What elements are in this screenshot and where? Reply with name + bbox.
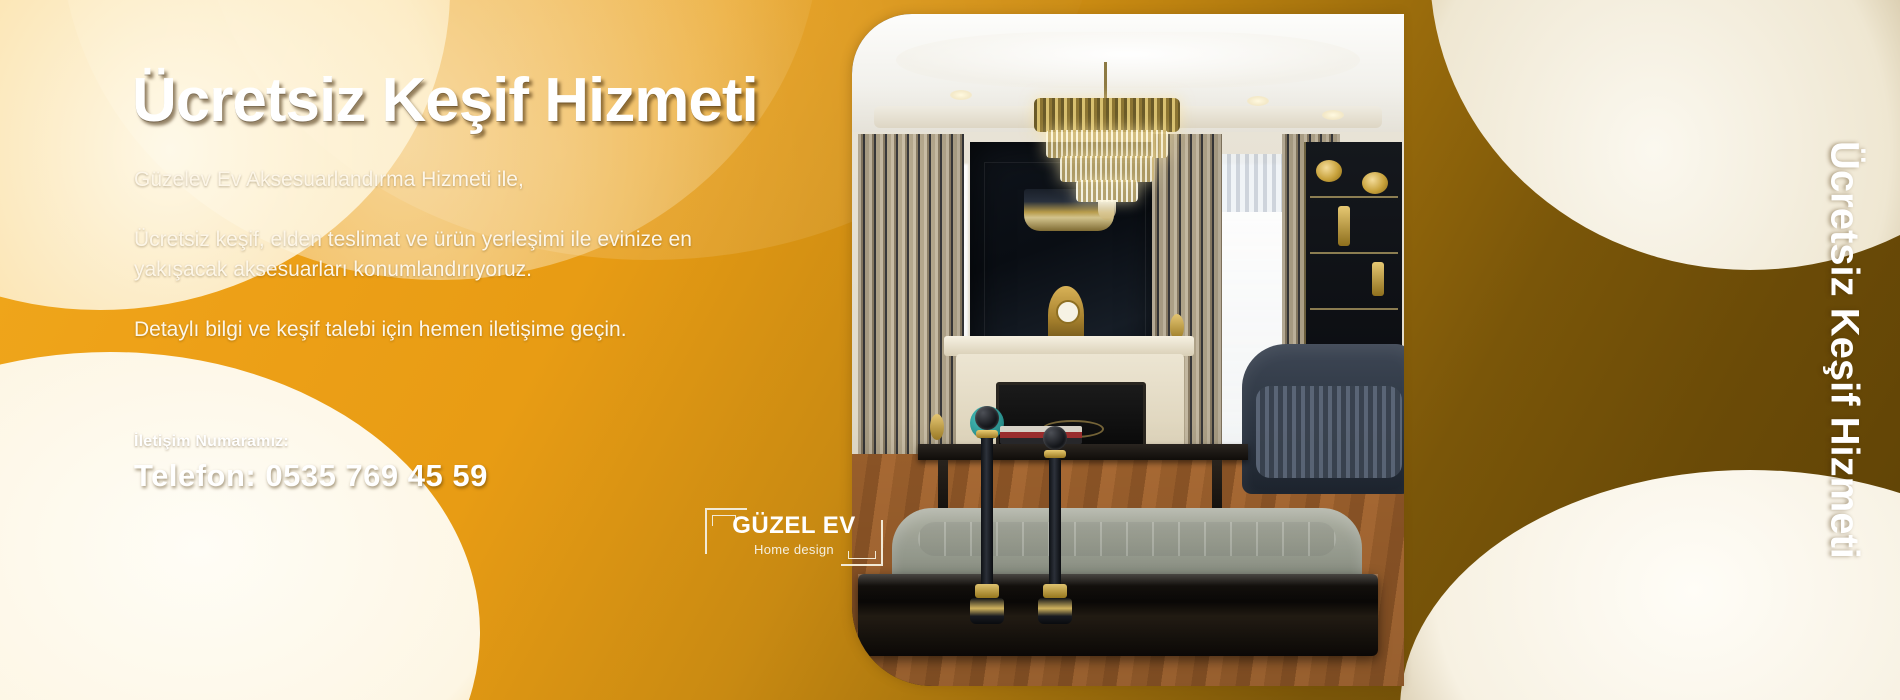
chandelier-tier [1076, 180, 1138, 202]
ornament-base [1038, 598, 1072, 624]
chandelier-tier [1034, 98, 1180, 132]
vase-ornament [1372, 262, 1384, 296]
chandelier-tip [1098, 200, 1116, 220]
cta-paragraph: Detaylı bilgi ve keşif talebi için hemen… [134, 315, 627, 345]
fireplace-mantel [944, 336, 1194, 356]
ornament-base [970, 598, 1004, 624]
gold-rose-ornament [1362, 172, 1388, 194]
chandelier-tier [1046, 130, 1168, 158]
stacked-books [1000, 426, 1082, 444]
chandelier-tier [1060, 156, 1154, 182]
console-table [918, 444, 1248, 460]
logo-name: GÜZEL EV [705, 512, 883, 540]
banner-content: Ücretsiz Keşif Hizmeti Güzelev Ev Aksesu… [132, 0, 822, 700]
promo-banner: Ücretsiz Keşif Hizmeti Güzelev Ev Aksesu… [0, 0, 1900, 700]
curtain-tieback [930, 414, 944, 440]
ornament-sphere [1043, 426, 1067, 450]
shelf-board [1310, 308, 1398, 310]
crystal-chandelier [1028, 98, 1186, 226]
candlestick-ornament [1042, 426, 1068, 624]
shelf-board [1310, 252, 1398, 254]
gold-rose-ornament [1316, 160, 1342, 182]
downlight-icon [1322, 110, 1344, 120]
brand-logo[interactable]: GÜZEL EV Home design [705, 508, 883, 568]
glass-top-table [858, 574, 1378, 656]
shelf-board [1310, 196, 1398, 198]
interior-photo [852, 14, 1404, 686]
downlight-icon [950, 90, 972, 100]
contact-phone-number[interactable]: Telefon: 0535 769 45 59 [134, 458, 488, 494]
downlight-icon [1247, 96, 1269, 106]
ornament-band [975, 584, 999, 598]
ornament-column [981, 438, 993, 584]
ornament-band [1043, 584, 1067, 598]
ornament-column [1049, 458, 1061, 584]
candlestick-ornament [974, 406, 1000, 624]
vertical-side-title-text: Ücretsiz Keşif Hizmeti [1822, 141, 1867, 559]
body-paragraph: Ücretsiz keşif, elden teslimat ve ürün y… [134, 225, 754, 286]
vase-ornament [1338, 206, 1350, 246]
page-title: Ücretsiz Keşif Hizmeti [132, 68, 758, 133]
ornament-ring [976, 430, 998, 438]
contact-label: İletişim Numaramız: [134, 433, 289, 451]
ornament-sphere [975, 406, 999, 430]
vertical-side-title: Ücretsiz Keşif Hizmeti [1796, 0, 1892, 700]
ornament-ring [1044, 450, 1066, 458]
interior-photo-scene [852, 14, 1404, 686]
armchair [1242, 344, 1404, 494]
logo-tagline: Home design [705, 542, 883, 557]
intro-paragraph: Güzelev Ev Aksesuarlandırma Hizmeti ile, [134, 165, 524, 195]
